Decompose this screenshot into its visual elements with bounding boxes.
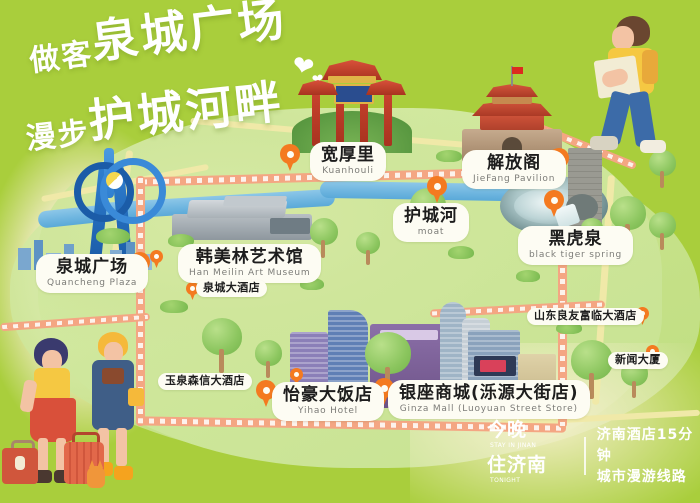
label-liangyou-fulin[interactable]: 山东良友富临大酒店 xyxy=(527,308,644,325)
label-en: Kuanhouli xyxy=(321,166,375,176)
label-cn: 新闻大厦 xyxy=(615,354,661,366)
footer-branding: 今晚STAY IN JINAN 住济南TONIGHT 济南酒店15分钟 城市漫游… xyxy=(487,421,700,491)
tree-icon xyxy=(648,212,678,252)
footer-tagline-line1: 济南酒店15分钟 xyxy=(597,425,700,467)
label-en: black tiger spring xyxy=(529,250,622,260)
label-xinwen-building[interactable]: 新闻大厦 xyxy=(608,352,668,369)
bush-icon xyxy=(160,300,188,313)
kuanhouli-archway xyxy=(292,58,412,153)
label-cn: 宽厚里 xyxy=(321,146,375,165)
label-en: Ginza Mall (Luoyuan Street Store) xyxy=(399,404,579,414)
label-cn: 玉泉森信大酒店 xyxy=(165,375,245,387)
label-en: JieFang Pavilion xyxy=(473,174,555,184)
label-han-meilin-museum[interactable]: 韩美林艺术馆 Han Meilin Art Museum xyxy=(178,244,321,283)
label-moat[interactable]: 护城河 moat xyxy=(393,203,469,242)
brand-line1: 今晚 xyxy=(487,419,527,441)
tree-icon xyxy=(355,232,381,266)
bush-icon xyxy=(96,228,130,244)
label-ginza-mall[interactable]: 银座商城(泺源大街店) Ginza Mall (Luoyuan Street S… xyxy=(388,380,590,419)
label-en: Quancheng Plaza xyxy=(47,278,137,288)
label-black-tiger-spring[interactable]: 黑虎泉 black tiger spring xyxy=(518,226,633,265)
label-en: Yihao Hotel xyxy=(283,406,373,416)
flag-icon xyxy=(512,67,523,74)
label-cn: 护城河 xyxy=(404,207,458,226)
label-cn: 山东良友富临大酒店 xyxy=(534,310,637,322)
map-pin-quancheng-hotel[interactable] xyxy=(150,250,163,268)
brand-en-line2: TONIGHT xyxy=(490,477,520,485)
brand-logo: 今晚STAY IN JINAN 住济南TONIGHT xyxy=(487,421,573,491)
label-cn: 泉城大酒店 xyxy=(203,282,260,294)
tree-icon xyxy=(648,150,678,190)
label-kuanhouli[interactable]: 宽厚里 Kuanhouli xyxy=(310,142,386,181)
label-cn: 解放阁 xyxy=(473,154,555,173)
label-cn: 怡豪大饭店 xyxy=(283,386,373,405)
map-pin-kuanhouli[interactable] xyxy=(280,144,300,171)
tree-icon xyxy=(200,318,244,374)
label-cn: 泉城广场 xyxy=(47,258,137,277)
label-quancheng-plaza[interactable]: 泉城广场 Quancheng Plaza xyxy=(36,254,148,293)
cat-illustration xyxy=(84,460,108,490)
label-yuquan-senxin[interactable]: 玉泉森信大酒店 xyxy=(158,373,252,390)
bush-icon xyxy=(436,150,462,162)
handbag-illustration xyxy=(2,440,38,484)
map-pin-black-tiger-spring[interactable] xyxy=(544,190,564,217)
label-jiefang-pavilion[interactable]: 解放阁 JieFang Pavilion xyxy=(462,150,566,189)
title-line1-prefix: 做客 xyxy=(27,29,96,80)
title-line2-main: 护城河畔 xyxy=(85,65,287,151)
bush-icon xyxy=(516,270,540,282)
brand-line2: 住济南 xyxy=(487,454,547,476)
title-line1-main: 泉城广场 xyxy=(87,0,290,72)
bush-icon xyxy=(448,246,474,259)
footer-tagline: 济南酒店15分钟 城市漫游线路 xyxy=(597,425,700,488)
label-cn: 韩美林艺术馆 xyxy=(189,248,310,267)
label-cn: 黑虎泉 xyxy=(529,230,622,249)
label-cn: 银座商城(泺源大街店) xyxy=(399,384,579,403)
label-en: Han Meilin Art Museum xyxy=(189,268,310,278)
label-en: moat xyxy=(404,227,458,237)
footer-divider xyxy=(584,437,585,475)
map-pin-moat[interactable] xyxy=(427,176,447,203)
walking-traveler-illustration xyxy=(586,14,682,154)
footer-tagline-line2: 城市漫游线路 xyxy=(597,467,700,488)
brand-en-line1: STAY IN JINAN xyxy=(490,442,536,450)
label-quancheng-hotel[interactable]: 泉城大酒店 xyxy=(196,280,267,297)
tourist-map-poster: 做客 泉城广场 漫步 护城河畔 ❤ ❤ xyxy=(0,0,700,503)
tree-icon xyxy=(254,340,284,380)
label-yihao-hotel[interactable]: 怡豪大饭店 Yihao Hotel xyxy=(272,382,384,421)
